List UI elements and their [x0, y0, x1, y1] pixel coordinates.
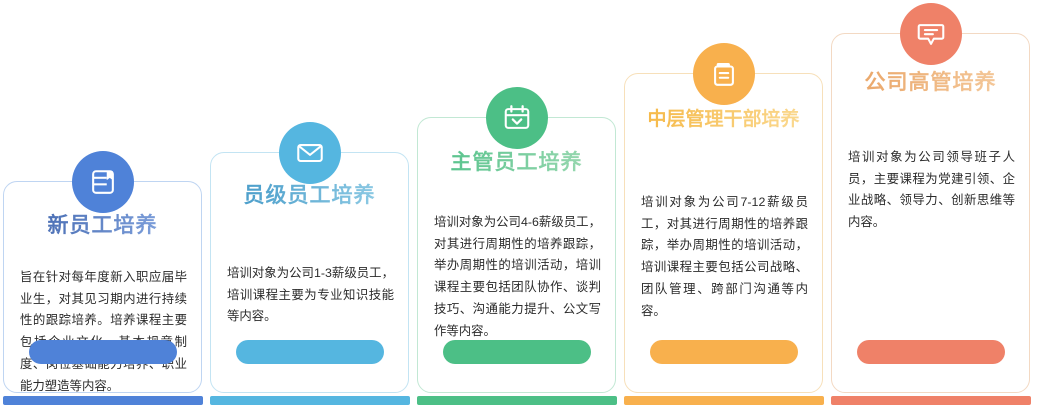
card-base-bar-new-employee: [3, 396, 203, 405]
card-base-bar-staff-level: [210, 396, 410, 405]
card-pill-staff-level[interactable]: [236, 340, 384, 364]
envelope-icon: [279, 122, 341, 184]
book-icon: [72, 151, 134, 213]
card-base-bar-supervisor-level: [417, 396, 617, 405]
card-new-employee[interactable]: 新员工培养旨在针对每年度新入职应届毕业生，对其见习期内进行持续性的跟踪培养。培养…: [3, 181, 202, 393]
card-inner-senior-executive: 公司高管培养培训对象为公司领导班子人员，主要课程为党建引领、企业战略、领导力、创…: [832, 34, 1029, 392]
card-title-supervisor-level: 主管员工培养: [418, 146, 615, 176]
card-title-middle-management: 中层管理干部培养: [625, 104, 822, 131]
card-staff-level[interactable]: 员级员工培养培训对象为公司1-3薪级员工，培训课程主要为专业知识技能等内容。: [210, 152, 409, 393]
card-base-bar-middle-management: [624, 396, 824, 405]
card-inner-staff-level: 员级员工培养培训对象为公司1-3薪级员工，培训课程主要为专业知识技能等内容。: [211, 153, 408, 392]
infographic-canvas: 新员工培养旨在针对每年度新入职应届毕业生，对其见习期内进行持续性的跟踪培养。培养…: [0, 0, 1040, 417]
card-senior-executive[interactable]: 公司高管培养培训对象为公司领导班子人员，主要课程为党建引领、企业战略、领导力、创…: [831, 33, 1030, 393]
card-body-staff-level: 培训对象为公司1-3薪级员工，培训课程主要为专业知识技能等内容。: [227, 263, 394, 328]
card-body-supervisor-level: 培训对象为公司4-6薪级员工，对其进行周期性的培养跟踪，举办周期性的培训活动，培…: [434, 212, 601, 342]
card-pill-middle-management[interactable]: [650, 340, 798, 364]
card-supervisor-level[interactable]: 主管员工培养培训对象为公司4-6薪级员工，对其进行周期性的培养跟踪，举办周期性的…: [417, 117, 616, 393]
card-body-new-employee: 旨在针对每年度新入职应届毕业生，对其见习期内进行持续性的跟踪培养。培养课程主要包…: [20, 267, 187, 397]
card-title-senior-executive: 公司高管培养: [832, 66, 1029, 96]
card-inner-new-employee: 新员工培养旨在针对每年度新入职应届毕业生，对其见习期内进行持续性的跟踪培养。培养…: [4, 182, 201, 392]
card-pill-new-employee[interactable]: [29, 340, 177, 364]
document-icon: [693, 43, 755, 105]
calendar-icon: [486, 87, 548, 149]
card-title-new-employee: 新员工培养: [4, 209, 201, 239]
card-pill-senior-executive[interactable]: [857, 340, 1005, 364]
card-pill-supervisor-level[interactable]: [443, 340, 591, 364]
card-body-middle-management: 培训对象为公司7-12薪级员工，对其进行周期性的培养跟踪，举办周期性的培训活动，…: [641, 192, 808, 322]
card-body-senior-executive: 培训对象为公司领导班子人员，主要课程为党建引领、企业战略、领导力、创新思维等内容…: [848, 147, 1015, 234]
chat-bubble-icon: [900, 3, 962, 65]
card-middle-management[interactable]: 中层管理干部培养培训对象为公司7-12薪级员工，对其进行周期性的培养跟踪，举办周…: [624, 73, 823, 393]
card-base-bar-senior-executive: [831, 396, 1031, 405]
card-inner-middle-management: 中层管理干部培养培训对象为公司7-12薪级员工，对其进行周期性的培养跟踪，举办周…: [625, 74, 822, 392]
card-inner-supervisor-level: 主管员工培养培训对象为公司4-6薪级员工，对其进行周期性的培养跟踪，举办周期性的…: [418, 118, 615, 392]
